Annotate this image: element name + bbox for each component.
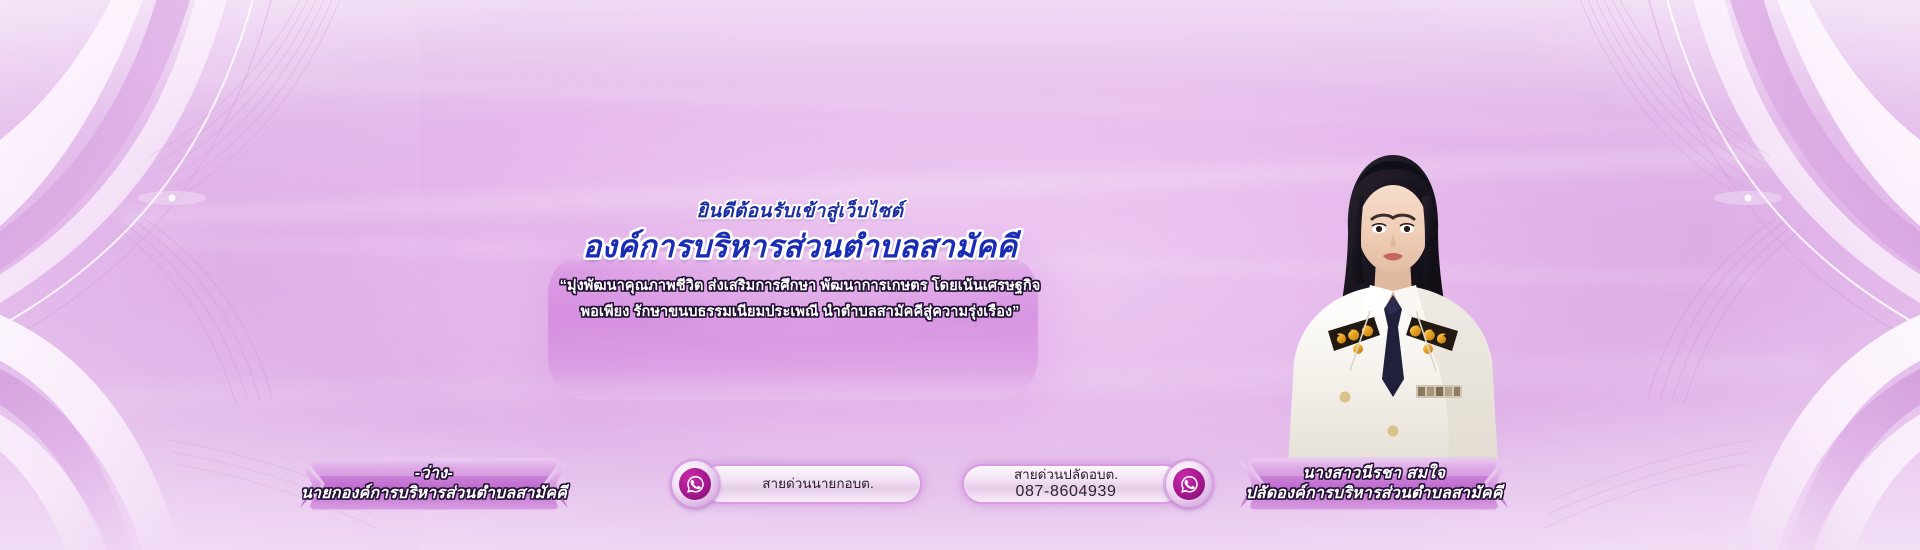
organization-title: องค์การบริหารส่วนตำบลสามัคคี — [520, 228, 1080, 266]
hotline-clerk-label: สายด่วนปลัดอบต. — [976, 467, 1156, 483]
light-sweep-4 — [200, 69, 1720, 140]
whatsapp-phone-icon[interactable] — [1166, 461, 1212, 507]
executive-left-banner[interactable]: -ว่าง- นายกองค์การบริหารส่วนตำบลสามัคคี — [300, 456, 568, 512]
welcome-heading: ยินดีต้อนรับเข้าสู่เว็บไซต์ — [520, 200, 1080, 224]
executive-right-banner[interactable]: นางสาวนีรชา สมใจ ปลัดองค์การบริหารส่วนตำ… — [1240, 456, 1508, 512]
executive-left-position: นายกองค์การบริหารส่วนตำบลสามัคคี — [301, 484, 567, 504]
portrait-illustration — [1288, 135, 1498, 465]
whatsapp-phone-icon[interactable] — [672, 461, 718, 507]
motto-line-1: “มุ่งพัฒนาคุณภาพชีวิต ส่งเสริมการศึกษา พ… — [520, 273, 1080, 300]
hotline-clerk[interactable]: สายด่วนปลัดอบต. 087-8604939 — [962, 462, 1212, 506]
banner-stage: ยินดีต้อนรับเข้าสู่เว็บไซต์ องค์การบริหา… — [0, 0, 1920, 550]
executive-right-name: นางสาวนีรชา สมใจ — [1245, 464, 1502, 484]
hotline-mayor[interactable]: สายด่วนนายกอบต. — [672, 462, 922, 506]
hotline-clerk-pill[interactable]: สายด่วนปลัดอบต. 087-8604939 — [962, 464, 1184, 504]
hotline-clerk-number: 087-8604939 — [976, 483, 1156, 502]
executive-right-position: ปลัดองค์การบริหารส่วนตำบลสามัคคี — [1245, 484, 1502, 504]
hotline-mayor-pill[interactable]: สายด่วนนายกอบต. — [700, 464, 922, 504]
hotline-mayor-label: สายด่วนนายกอบต. — [762, 476, 873, 491]
executive-left-name: -ว่าง- — [301, 464, 567, 484]
welcome-text-block: ยินดีต้อนรับเข้าสู่เว็บไซต์ องค์การบริหา… — [520, 200, 1080, 326]
motto-line-2: พอเพียง รักษาขนบธรรมเนียมประเพณี นำตำบลส… — [520, 299, 1080, 326]
bottom-info-row: -ว่าง- นายกองค์การบริหารส่วนตำบลสามัคคี … — [0, 456, 1920, 512]
executive-portrait-photo — [1288, 135, 1498, 465]
